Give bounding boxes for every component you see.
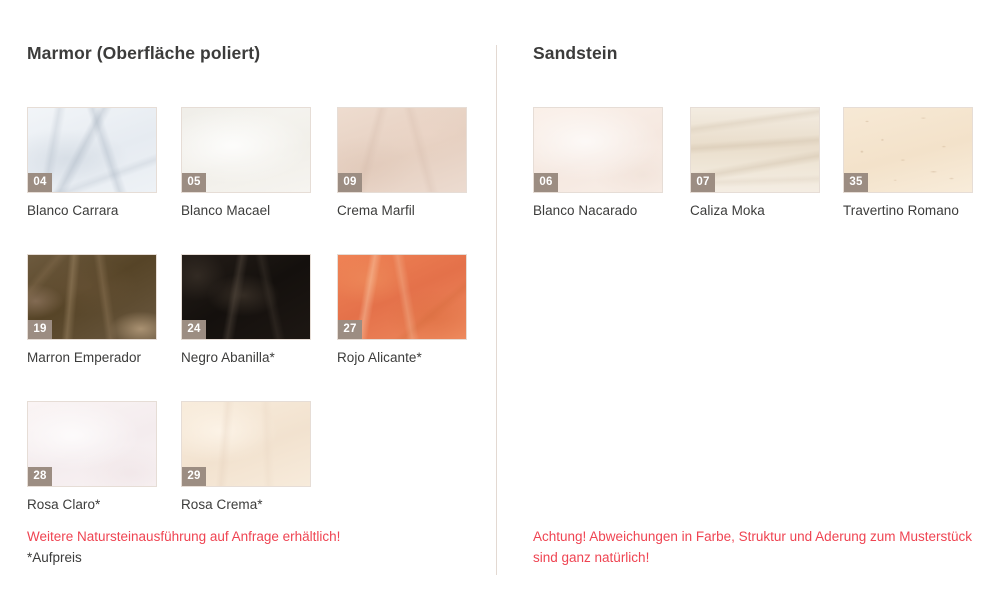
swatch-row: 19 Marron Emperador 24 Negro Abanilla* 2… [27, 254, 487, 401]
swatch-item-blanco-carrara[interactable]: 04 Blanco Carrara [27, 107, 157, 218]
swatch-grid-marmor: 04 Blanco Carrara 05 Blanco Macael 09 [27, 107, 487, 548]
swatch-code-badge: 09 [338, 173, 362, 192]
stone-sample-sheet: Marmor (Oberfläche poliert) 04 Blanco Ca… [0, 0, 1000, 613]
note-surcharge: *Aufpreis [27, 548, 82, 569]
swatch-item-rojo-alicante[interactable]: 27 Rojo Alicante* [337, 254, 467, 365]
swatch-code-badge: 04 [28, 173, 52, 192]
swatch-item-negro-abanilla[interactable]: 24 Negro Abanilla* [181, 254, 311, 365]
swatch-tile[interactable]: 28 [27, 401, 157, 487]
swatch-code-badge: 27 [338, 320, 362, 339]
swatch-tile[interactable]: 07 [690, 107, 820, 193]
swatch-label: Caliza Moka [690, 203, 820, 218]
swatch-tile[interactable]: 19 [27, 254, 157, 340]
swatch-label: Rojo Alicante* [337, 350, 467, 365]
swatch-label: Rosa Claro* [27, 497, 157, 512]
swatch-item-rosa-crema[interactable]: 29 Rosa Crema* [181, 401, 311, 512]
section-title-sandstein: Sandstein [533, 43, 618, 64]
swatch-label: Travertino Romano [843, 203, 973, 218]
section-marmor: Marmor (Oberfläche poliert) 04 Blanco Ca… [27, 0, 487, 613]
swatch-code-badge: 07 [691, 173, 715, 192]
swatch-tile[interactable]: 27 [337, 254, 467, 340]
swatch-label: Rosa Crema* [181, 497, 311, 512]
swatch-label: Blanco Carrara [27, 203, 157, 218]
swatch-grid-sandstein: 06 Blanco Nacarado 07 Caliza Moka 35 [533, 107, 988, 254]
swatch-tile[interactable]: 24 [181, 254, 311, 340]
swatch-tile[interactable]: 05 [181, 107, 311, 193]
swatch-code-badge: 28 [28, 467, 52, 486]
note-colour-deviation-warning: Achtung! Abweichungen in Farbe, Struktur… [533, 527, 993, 569]
swatch-label: Blanco Macael [181, 203, 311, 218]
swatch-label: Crema Marfil [337, 203, 467, 218]
swatch-item-travertino-romano[interactable]: 35 Travertino Romano [843, 107, 973, 218]
column-divider [496, 45, 497, 575]
note-further-stone-finishes: Weitere Natursteinausführung auf Anfrage… [27, 527, 340, 548]
swatch-code-badge: 29 [182, 467, 206, 486]
swatch-code-badge: 19 [28, 320, 52, 339]
swatch-code-badge: 35 [844, 173, 868, 192]
swatch-row: 06 Blanco Nacarado 07 Caliza Moka 35 [533, 107, 988, 254]
swatch-item-caliza-moka[interactable]: 07 Caliza Moka [690, 107, 820, 218]
swatch-tile[interactable]: 04 [27, 107, 157, 193]
swatch-row: 04 Blanco Carrara 05 Blanco Macael 09 [27, 107, 487, 254]
swatch-tile[interactable]: 06 [533, 107, 663, 193]
section-title-marmor: Marmor (Oberfläche poliert) [27, 43, 260, 64]
swatch-label: Negro Abanilla* [181, 350, 311, 365]
swatch-item-crema-marfil[interactable]: 09 Crema Marfil [337, 107, 467, 218]
swatch-item-blanco-nacarado[interactable]: 06 Blanco Nacarado [533, 107, 663, 218]
swatch-label: Blanco Nacarado [533, 203, 663, 218]
swatch-tile[interactable]: 09 [337, 107, 467, 193]
swatch-label: Marron Emperador [27, 350, 157, 365]
swatch-item-rosa-claro[interactable]: 28 Rosa Claro* [27, 401, 157, 512]
swatch-code-badge: 05 [182, 173, 206, 192]
swatch-item-blanco-macael[interactable]: 05 Blanco Macael [181, 107, 311, 218]
swatch-item-marron-emperador[interactable]: 19 Marron Emperador [27, 254, 157, 365]
swatch-row: 28 Rosa Claro* 29 Rosa Crema* [27, 401, 487, 548]
swatch-tile[interactable]: 35 [843, 107, 973, 193]
swatch-code-badge: 24 [182, 320, 206, 339]
swatch-tile[interactable]: 29 [181, 401, 311, 487]
swatch-code-badge: 06 [534, 173, 558, 192]
section-sandstein: Sandstein 06 Blanco Nacarado 07 Caliza M… [533, 0, 988, 613]
